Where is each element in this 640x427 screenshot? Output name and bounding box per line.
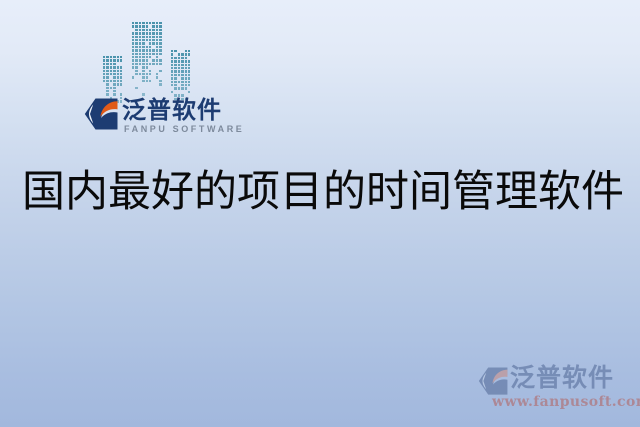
tower-pixel xyxy=(132,76,134,78)
tower-pixel xyxy=(156,76,158,78)
tower-pixel xyxy=(171,64,173,66)
tower-pixel xyxy=(110,63,112,65)
tower-pixel xyxy=(159,42,161,44)
tower-pixel xyxy=(117,66,119,68)
tower-pixel xyxy=(103,59,105,61)
tower-pixel xyxy=(106,73,108,75)
tower-pixel xyxy=(159,22,161,24)
tower-pixel xyxy=(120,59,122,61)
tower-pixel xyxy=(139,39,141,41)
tower-pixel xyxy=(139,73,141,75)
tower-pixel xyxy=(149,36,151,38)
tower-pixel xyxy=(135,39,137,41)
tower-pixel xyxy=(181,60,183,62)
tower-pixel xyxy=(146,25,148,27)
tower-pixel xyxy=(142,63,144,65)
tower-pixel xyxy=(142,32,144,34)
tower-pixel xyxy=(117,73,119,75)
tower-pixel xyxy=(152,39,154,41)
tower-pixel xyxy=(120,70,122,72)
tower-pixel xyxy=(156,46,158,48)
tower-pixel xyxy=(188,74,190,76)
tower-pixel xyxy=(188,81,190,83)
brand-logo: 泛普软件 FANPU SOFTWARE xyxy=(84,96,234,142)
tower-pixel xyxy=(142,76,144,78)
tower-pixel xyxy=(152,29,154,31)
tower-pixel xyxy=(146,36,148,38)
tower-pixel xyxy=(103,76,105,78)
tower-pixel xyxy=(171,74,173,76)
tower-pixel xyxy=(132,63,134,65)
tower-pixel xyxy=(181,57,183,59)
tower-pixel xyxy=(103,66,105,68)
tower-pixel xyxy=(132,46,134,48)
tower-pixel xyxy=(139,56,141,58)
tower-pixel xyxy=(110,70,112,72)
tower-pixel xyxy=(159,83,161,85)
tower-pixel xyxy=(110,66,112,68)
tower-pixel xyxy=(132,36,134,38)
tower-pixel xyxy=(149,39,151,41)
tower-pixel xyxy=(117,59,119,61)
tower-pixel xyxy=(171,57,173,59)
tower-pixel xyxy=(113,70,115,72)
tower-pixel xyxy=(120,73,122,75)
tower-pixel xyxy=(135,63,137,65)
tower-pixel xyxy=(110,87,112,89)
tower-pixel xyxy=(171,91,173,93)
tower-pixel xyxy=(106,80,108,82)
tower-pixel xyxy=(178,81,180,83)
tower-pixel xyxy=(146,63,148,65)
tower-pixel xyxy=(132,66,134,68)
tower-pixel xyxy=(152,63,154,65)
tower-pixel xyxy=(159,49,161,51)
tower-pixel xyxy=(185,53,187,55)
tower-pixel xyxy=(113,80,115,82)
tower-pixel xyxy=(106,66,108,68)
tower-pixel xyxy=(135,42,137,44)
tower-pixel xyxy=(174,84,176,86)
tower-pixel xyxy=(159,32,161,34)
tower-pixel xyxy=(178,70,180,72)
tower-pixel xyxy=(171,60,173,62)
tower-pixel xyxy=(174,74,176,76)
tower-pixel xyxy=(113,63,115,65)
tower-pixel xyxy=(117,76,119,78)
tower-pixel xyxy=(135,32,137,34)
tower-pixel xyxy=(146,46,148,48)
tower-pixel xyxy=(146,73,148,75)
tower-pixel xyxy=(188,84,190,86)
tower-pixel xyxy=(171,50,173,52)
tower-pixel xyxy=(113,73,115,75)
tower-pixel xyxy=(106,83,108,85)
tower-pixel xyxy=(146,76,148,78)
tower-pixel xyxy=(174,67,176,69)
tower-pixel xyxy=(139,36,141,38)
tower-pixel xyxy=(149,32,151,34)
tower-pixel xyxy=(139,22,141,24)
tower-pixel xyxy=(185,50,187,52)
tower-pixel xyxy=(146,80,148,82)
tower-pixel xyxy=(135,87,137,89)
tower-pixel xyxy=(132,25,134,27)
tower-pixel xyxy=(135,22,137,24)
tower-pixel xyxy=(135,25,137,27)
tower-pixel xyxy=(132,53,134,55)
tower-pixel xyxy=(174,81,176,83)
tower-pixel xyxy=(139,49,141,51)
tower-pixel xyxy=(103,70,105,72)
tower-pixel xyxy=(159,25,161,27)
fanpu-hexagon-mark-icon xyxy=(84,98,118,130)
tower-pixel xyxy=(174,87,176,89)
tower-pixel xyxy=(159,46,161,48)
tower-pixel xyxy=(185,64,187,66)
tower-pixel xyxy=(159,53,161,55)
tower-pixel xyxy=(171,84,173,86)
tower-pixel xyxy=(174,70,176,72)
tower-pixel xyxy=(149,49,151,51)
tower-pixel xyxy=(152,36,154,38)
tower-pixel xyxy=(178,67,180,69)
tower-pixel xyxy=(178,64,180,66)
tower-pixel xyxy=(152,53,154,55)
tower-pixel xyxy=(156,53,158,55)
watermark-fanpu-hexagon-mark-icon xyxy=(478,367,508,395)
tower-pixel xyxy=(178,53,180,55)
tower-pixel xyxy=(117,83,119,85)
tower-pixel xyxy=(149,56,151,58)
tower-pixel xyxy=(185,60,187,62)
tower-pixel xyxy=(142,25,144,27)
tower-pixel xyxy=(156,63,158,65)
watermark-url: www.fanpusoft.com xyxy=(492,394,640,410)
tower-pixel xyxy=(110,80,112,82)
tower-pixel xyxy=(142,49,144,51)
tower-pixel xyxy=(188,53,190,55)
tower-pixel xyxy=(185,87,187,89)
tower-pixel xyxy=(135,59,137,61)
tower-pixel xyxy=(103,73,105,75)
tower-pixel xyxy=(181,53,183,55)
tower-pixel xyxy=(135,46,137,48)
tower-pixel xyxy=(120,76,122,78)
tower-pixel xyxy=(178,60,180,62)
tower-pixel xyxy=(135,70,137,72)
tower-pixel xyxy=(146,56,148,58)
tower-pixel xyxy=(174,50,176,52)
tower-pixel xyxy=(156,29,158,31)
tower-pixel xyxy=(174,77,176,79)
tower-pixel xyxy=(146,66,148,68)
tower-pixel xyxy=(139,32,141,34)
tower-pixel xyxy=(181,74,183,76)
tower-pixel xyxy=(156,39,158,41)
slide-canvas: 泛普软件 FANPU SOFTWARE 国内最好的项目的时间管理软件 泛普软件 … xyxy=(0,0,640,427)
tower-pixel xyxy=(113,83,115,85)
tower-pixel xyxy=(139,46,141,48)
tower-pixel xyxy=(120,56,122,58)
tower-pixel xyxy=(146,59,148,61)
tower-pixel xyxy=(142,29,144,31)
tower-pixel xyxy=(156,22,158,24)
tower-pixel xyxy=(174,64,176,66)
tower-pixel xyxy=(185,74,187,76)
tower-pixel xyxy=(159,59,161,61)
tower-pixel xyxy=(149,22,151,24)
tower-pixel xyxy=(159,29,161,31)
tower-pixel xyxy=(159,70,161,72)
tower-pixel xyxy=(106,76,108,78)
tower-pixel xyxy=(152,59,154,61)
tower-pixel xyxy=(132,59,134,61)
tower-pixel xyxy=(142,46,144,48)
tower-pixel xyxy=(135,56,137,58)
tower-pixel xyxy=(149,63,151,65)
tower-pixel xyxy=(139,42,141,44)
tower-pixel xyxy=(135,49,137,51)
tower-pixel xyxy=(185,67,187,69)
tower-pixel xyxy=(152,42,154,44)
tower-pixel xyxy=(139,25,141,27)
tower-pixel xyxy=(171,53,173,55)
tower-pixel xyxy=(142,42,144,44)
tower-pixel xyxy=(156,36,158,38)
tower-pixel xyxy=(135,66,137,68)
tower-pixel xyxy=(181,70,183,72)
tower-pixel xyxy=(142,22,144,24)
tower-pixel xyxy=(132,32,134,34)
tower-pixel xyxy=(146,32,148,34)
tower-pixel xyxy=(178,74,180,76)
tower-pixel xyxy=(135,36,137,38)
tower-pixel xyxy=(146,39,148,41)
pixel-towers-graphic xyxy=(96,20,204,108)
tower-pixel xyxy=(106,70,108,72)
tower-pixel xyxy=(110,56,112,58)
tower-pixel xyxy=(156,25,158,27)
tower-pixel xyxy=(135,29,137,31)
tower-pixel xyxy=(152,25,154,27)
tower-pixel xyxy=(156,42,158,44)
tower-pixel xyxy=(106,59,108,61)
tower-pixel xyxy=(188,67,190,69)
tower-pixel xyxy=(117,70,119,72)
tower-pixel xyxy=(120,80,122,82)
tower-pixel xyxy=(132,39,134,41)
tower-pixel xyxy=(152,22,154,24)
tower-pixel xyxy=(159,80,161,82)
tower-pixel xyxy=(142,56,144,58)
tower-pixel xyxy=(120,66,122,68)
tower-pixel xyxy=(142,66,144,68)
tower-pixel xyxy=(120,83,122,85)
tower-pixel xyxy=(142,36,144,38)
tower-pixel xyxy=(149,46,151,48)
tower-pixel xyxy=(149,73,151,75)
tower-pixel xyxy=(117,80,119,82)
tower-pixel xyxy=(188,91,190,93)
tower-pixel xyxy=(188,60,190,62)
tower-pixel xyxy=(181,67,183,69)
tower-pixel xyxy=(171,81,173,83)
watermark: 泛普软件 www.fanpusoft.com xyxy=(474,363,634,421)
tower-pixel xyxy=(139,63,141,65)
tower-pixel xyxy=(188,50,190,52)
tower-pixel xyxy=(139,53,141,55)
tower-pixel xyxy=(178,57,180,59)
tower-pixel xyxy=(171,77,173,79)
tower-pixel xyxy=(171,70,173,72)
tower-pixel xyxy=(132,56,134,58)
tower-pixel xyxy=(188,70,190,72)
tower-pixel xyxy=(146,29,148,31)
tower-pixel xyxy=(159,63,161,65)
tower-pixel xyxy=(159,36,161,38)
tower-pixel xyxy=(117,56,119,58)
tower-pixel xyxy=(156,59,158,61)
tower-pixel xyxy=(149,70,151,72)
tower-pixel xyxy=(103,63,105,65)
tower-pixel xyxy=(132,49,134,51)
tower-pixel xyxy=(106,56,108,58)
tower-pixel xyxy=(185,81,187,83)
tower-pixel xyxy=(142,70,144,72)
tower-pixel xyxy=(156,32,158,34)
page-title: 国内最好的项目的时间管理软件 xyxy=(22,166,622,218)
tower-pixel xyxy=(113,87,115,89)
tower-pixel xyxy=(110,59,112,61)
tower-pixel xyxy=(188,64,190,66)
tower-pixel xyxy=(156,56,158,58)
tower-pixel xyxy=(103,80,105,82)
tower-pixel xyxy=(174,57,176,59)
tower-pixel xyxy=(152,32,154,34)
tower-pixel xyxy=(181,64,183,66)
tower-pixel xyxy=(142,73,144,75)
tower-pixel xyxy=(139,59,141,61)
tower-pixel xyxy=(185,70,187,72)
tower-pixel xyxy=(113,66,115,68)
tower-pixel xyxy=(135,53,137,55)
brand-name-cn: 泛普软件 xyxy=(122,96,222,124)
tower-pixel xyxy=(149,53,151,55)
tower-pixel xyxy=(181,81,183,83)
tower-pixel xyxy=(142,80,144,82)
tower-pixel xyxy=(146,53,148,55)
tower-pixel xyxy=(152,49,154,51)
tower-pixel xyxy=(159,39,161,41)
tower-pixel xyxy=(139,29,141,31)
tower-pixel xyxy=(185,57,187,59)
tower-pixel xyxy=(146,22,148,24)
tower-pixel xyxy=(156,73,158,75)
tower-pixel xyxy=(113,59,115,61)
tower-pixel xyxy=(106,90,108,92)
tower-pixel xyxy=(181,87,183,89)
tower-pixel xyxy=(103,56,105,58)
tower-pixel xyxy=(185,84,187,86)
tower-pixel xyxy=(142,39,144,41)
tower-pixel xyxy=(113,76,115,78)
tower-pixel xyxy=(149,80,151,82)
tower-pixel xyxy=(146,49,148,51)
tower-pixel xyxy=(142,53,144,55)
tower-pixel xyxy=(188,77,190,79)
tower-pixel xyxy=(132,22,134,24)
tower-pixel xyxy=(106,63,108,65)
tower-pixel xyxy=(156,49,158,51)
brand-name-en: FANPU SOFTWARE xyxy=(124,124,244,134)
tower-pixel xyxy=(185,77,187,79)
tower-pixel xyxy=(181,84,183,86)
watermark-brand-name: 泛普软件 xyxy=(510,363,614,393)
tower-pixel xyxy=(132,42,134,44)
tower-pixel xyxy=(181,77,183,79)
tower-pixel xyxy=(149,42,151,44)
tower-pixel xyxy=(113,90,115,92)
tower-pixel xyxy=(149,29,151,31)
tower-pixel xyxy=(113,56,115,58)
tower-pixel xyxy=(110,73,112,75)
tower-pixel xyxy=(106,87,108,89)
tower-pixel xyxy=(174,60,176,62)
tower-pixel xyxy=(135,73,137,75)
tower-pixel xyxy=(142,59,144,61)
tower-pixel xyxy=(178,87,180,89)
tower-pixel xyxy=(171,67,173,69)
